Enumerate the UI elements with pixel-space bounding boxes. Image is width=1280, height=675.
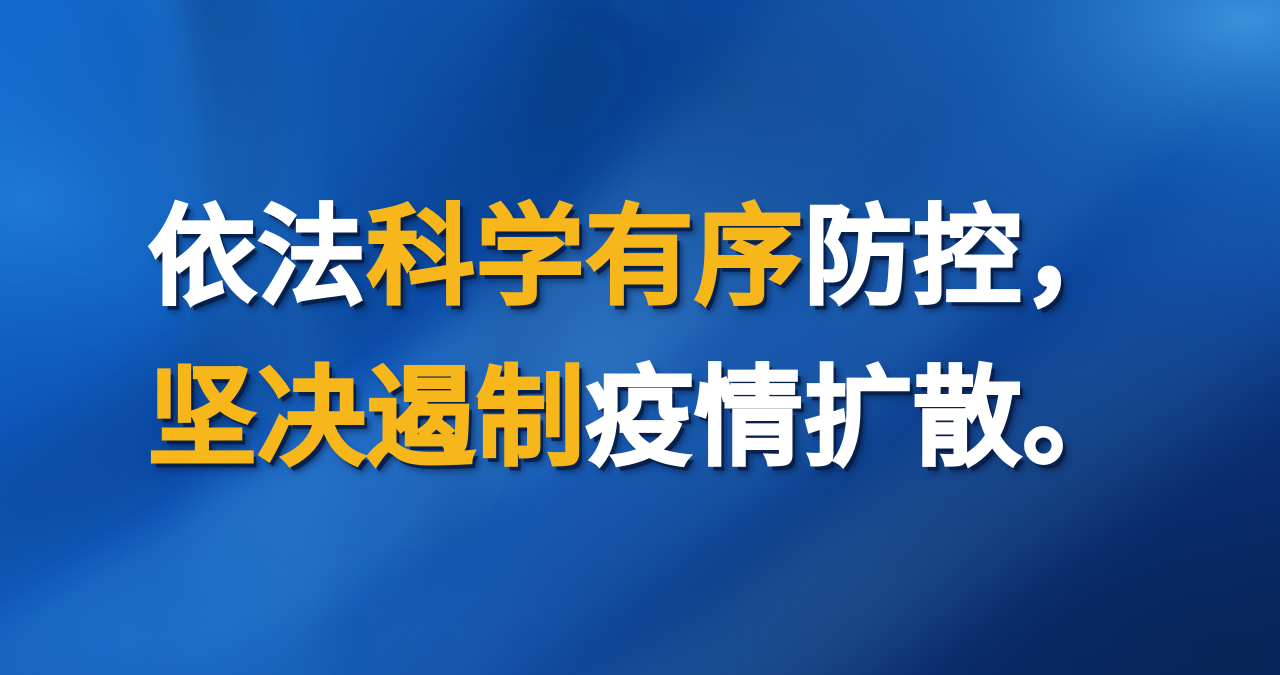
headline-line-2: 坚决遏制疫情扩散。 bbox=[148, 350, 1132, 486]
headline-segment-2-2: 疫情扩散。 bbox=[585, 357, 1131, 478]
headline-segment-2-1: 坚决遏制 bbox=[148, 357, 585, 478]
headline-segment-1-3: 防控， bbox=[804, 196, 1132, 317]
headline-block: 依法科学有序防控， 坚决遏制疫情扩散。 bbox=[0, 0, 1280, 675]
headline-segment-1-2: 科学有序 bbox=[367, 196, 804, 317]
headline-line-1: 依法科学有序防控， bbox=[148, 189, 1132, 325]
headline-segment-1-1: 依法 bbox=[148, 196, 367, 317]
poster-canvas: 依法科学有序防控， 坚决遏制疫情扩散。 bbox=[0, 0, 1280, 675]
